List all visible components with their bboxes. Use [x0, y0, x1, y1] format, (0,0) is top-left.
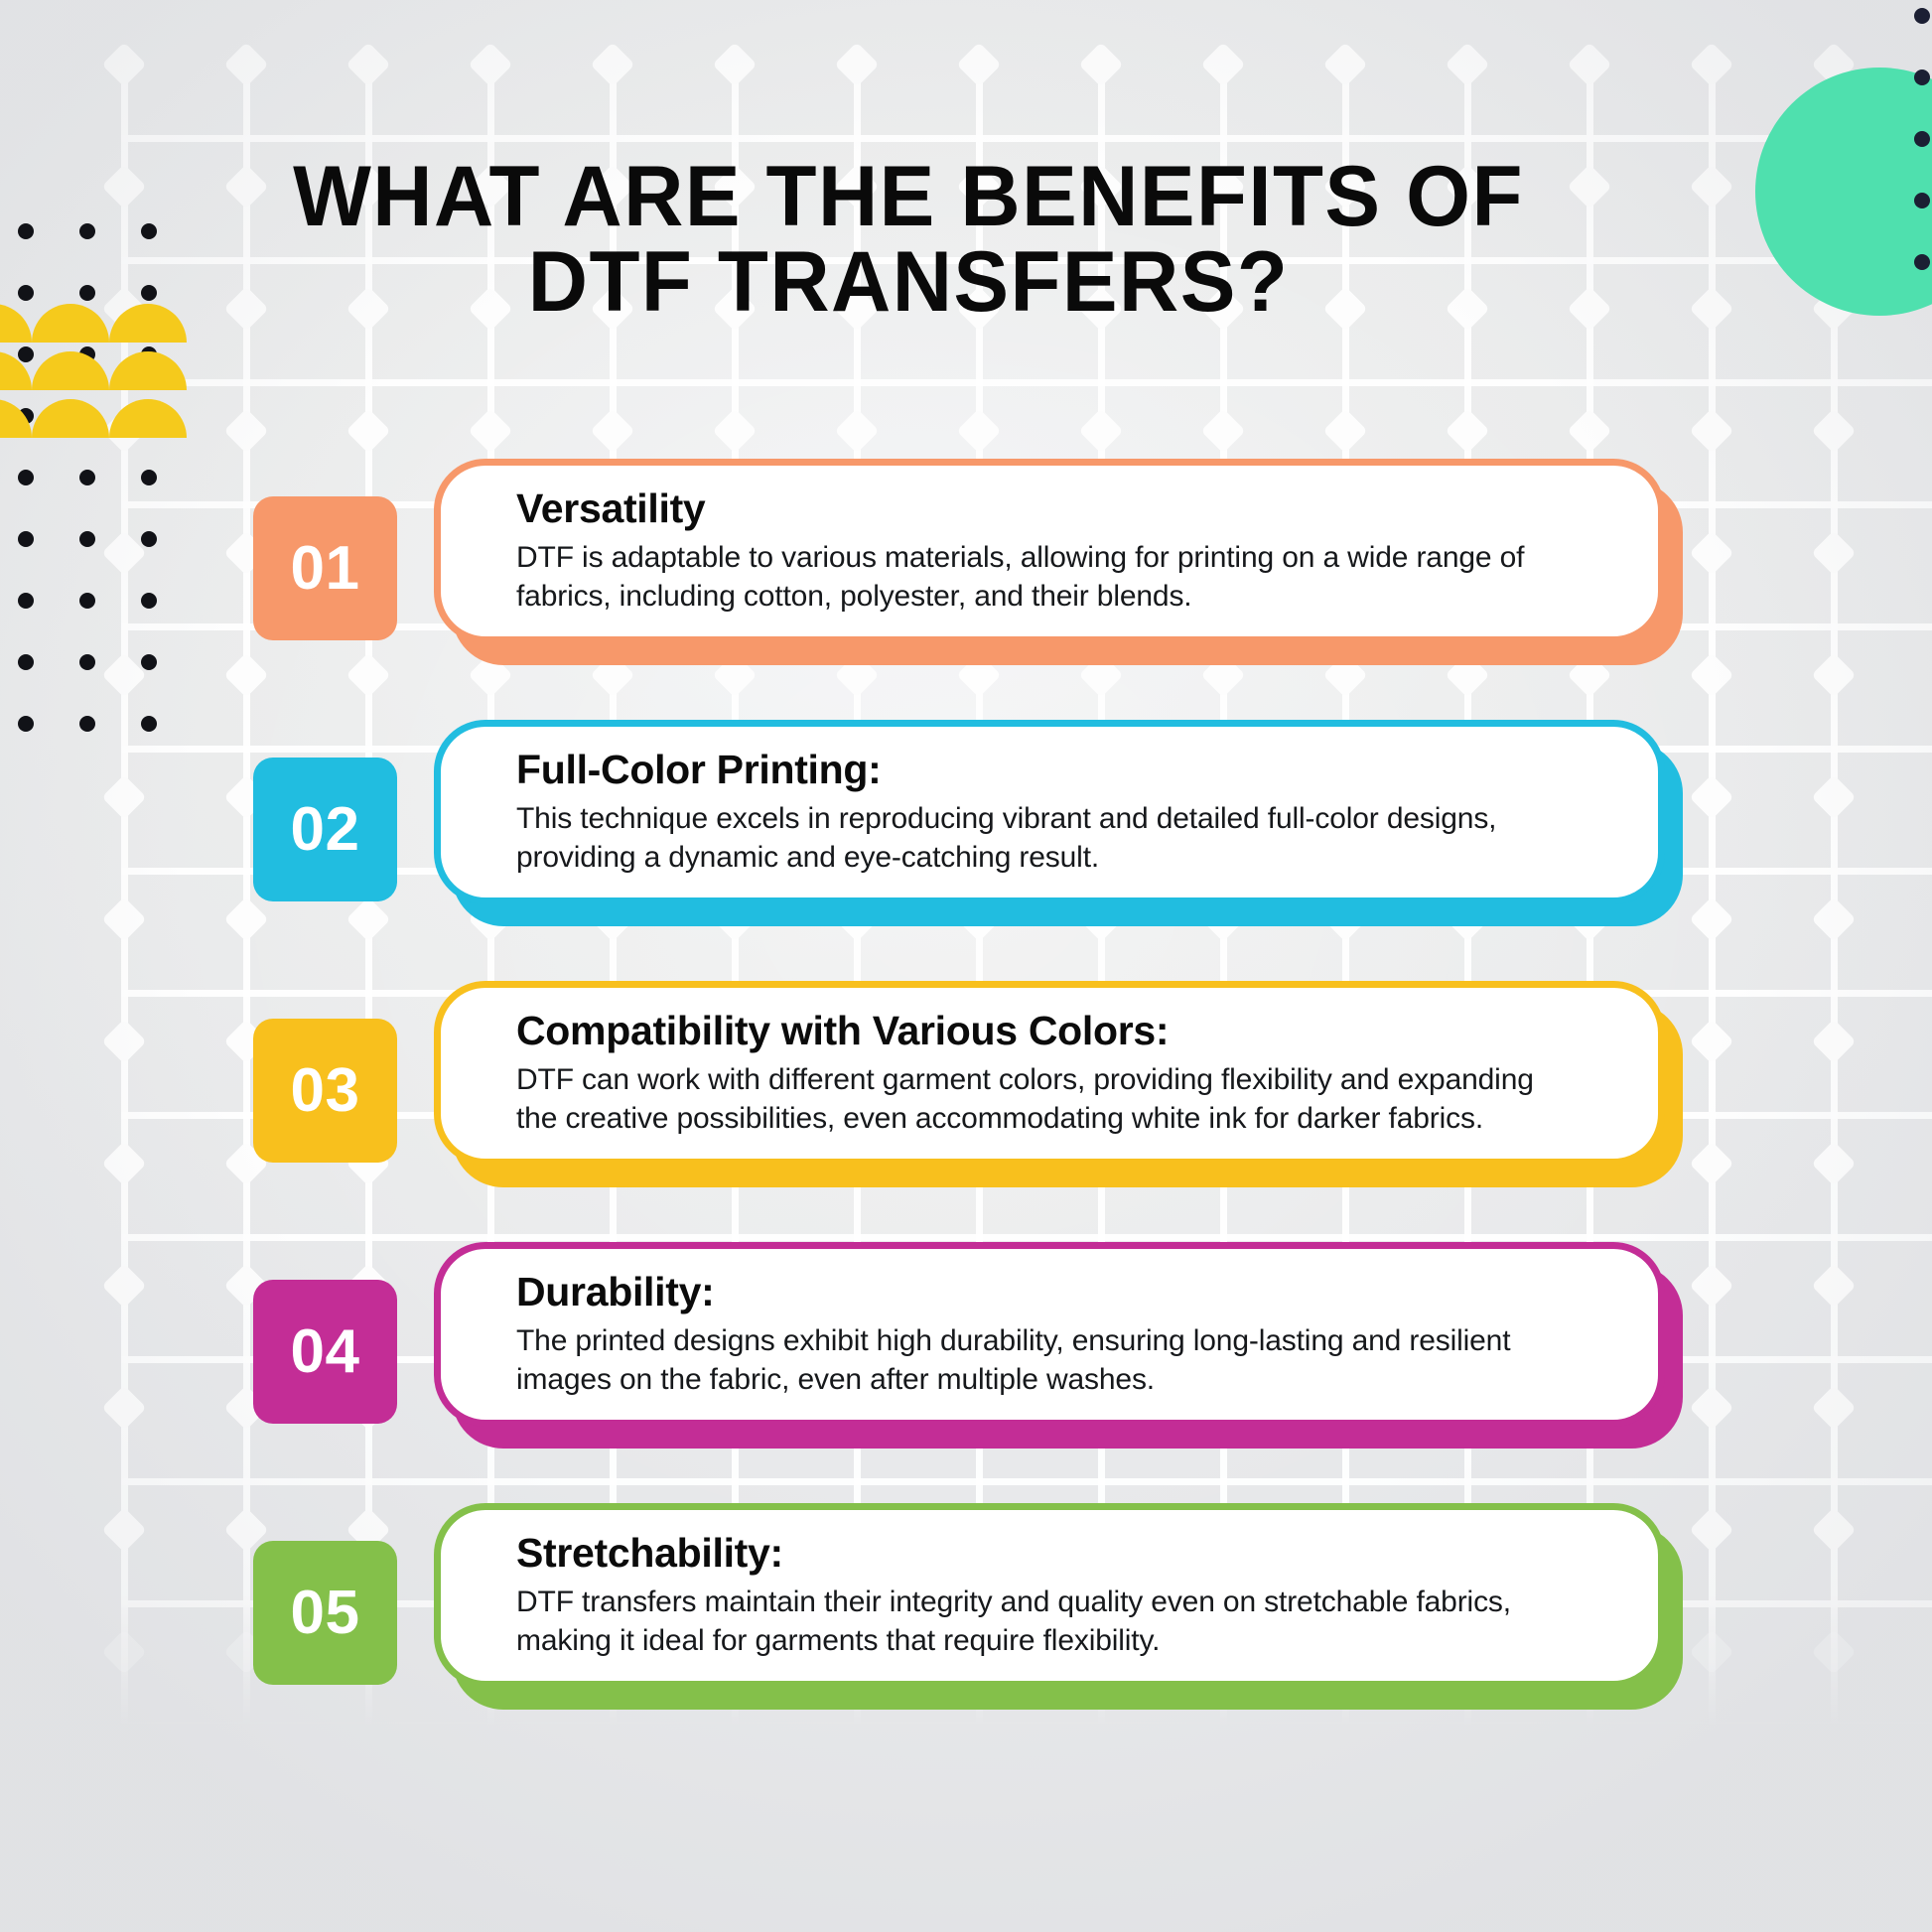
benefit-description: DTF is adaptable to various materials, a… [516, 538, 1579, 616]
benefit-card[interactable]: VersatilityDTF is adaptable to various m… [434, 459, 1665, 643]
benefit-card[interactable]: Compatibility with Various Colors:DTF ca… [434, 981, 1665, 1166]
benefit-card[interactable]: Full-Color Printing:This technique excel… [434, 720, 1665, 904]
benefit-number-badge: 02 [253, 758, 397, 901]
benefit-number-badge: 01 [253, 496, 397, 640]
benefit-description: DTF transfers maintain their integrity a… [516, 1583, 1579, 1660]
benefit-card[interactable]: Stretchability:DTF transfers maintain th… [434, 1503, 1665, 1688]
benefit-title: Full-Color Printing: [516, 748, 1618, 793]
benefit-row: Full-Color Printing:This technique excel… [0, 720, 1932, 904]
benefit-row: Stretchability:DTF transfers maintain th… [0, 1503, 1932, 1688]
benefit-row: Compatibility with Various Colors:DTF ca… [0, 981, 1932, 1166]
benefit-number-badge: 04 [253, 1280, 397, 1424]
benefit-number-badge: 03 [253, 1019, 397, 1163]
benefit-description: The printed designs exhibit high durabil… [516, 1321, 1579, 1399]
benefit-row: Durability:The printed designs exhibit h… [0, 1242, 1932, 1427]
benefit-card[interactable]: Durability:The printed designs exhibit h… [434, 1242, 1665, 1427]
benefit-title: Stretchability: [516, 1531, 1618, 1577]
benefit-title: Versatility [516, 486, 1618, 532]
benefit-description: This technique excels in reproducing vib… [516, 799, 1579, 877]
infographic-poster: WHAT ARE THE BENEFITS OF DTF TRANSFERS? … [0, 0, 1932, 1932]
benefit-row: VersatilityDTF is adaptable to various m… [0, 459, 1932, 643]
page-title: WHAT ARE THE BENEFITS OF DTF TRANSFERS? [239, 154, 1578, 325]
benefits-list: VersatilityDTF is adaptable to various m… [0, 459, 1932, 1764]
benefit-number-badge: 05 [253, 1541, 397, 1685]
benefit-title: Durability: [516, 1270, 1618, 1315]
benefit-title: Compatibility with Various Colors: [516, 1009, 1618, 1054]
benefit-description: DTF can work with different garment colo… [516, 1060, 1579, 1138]
